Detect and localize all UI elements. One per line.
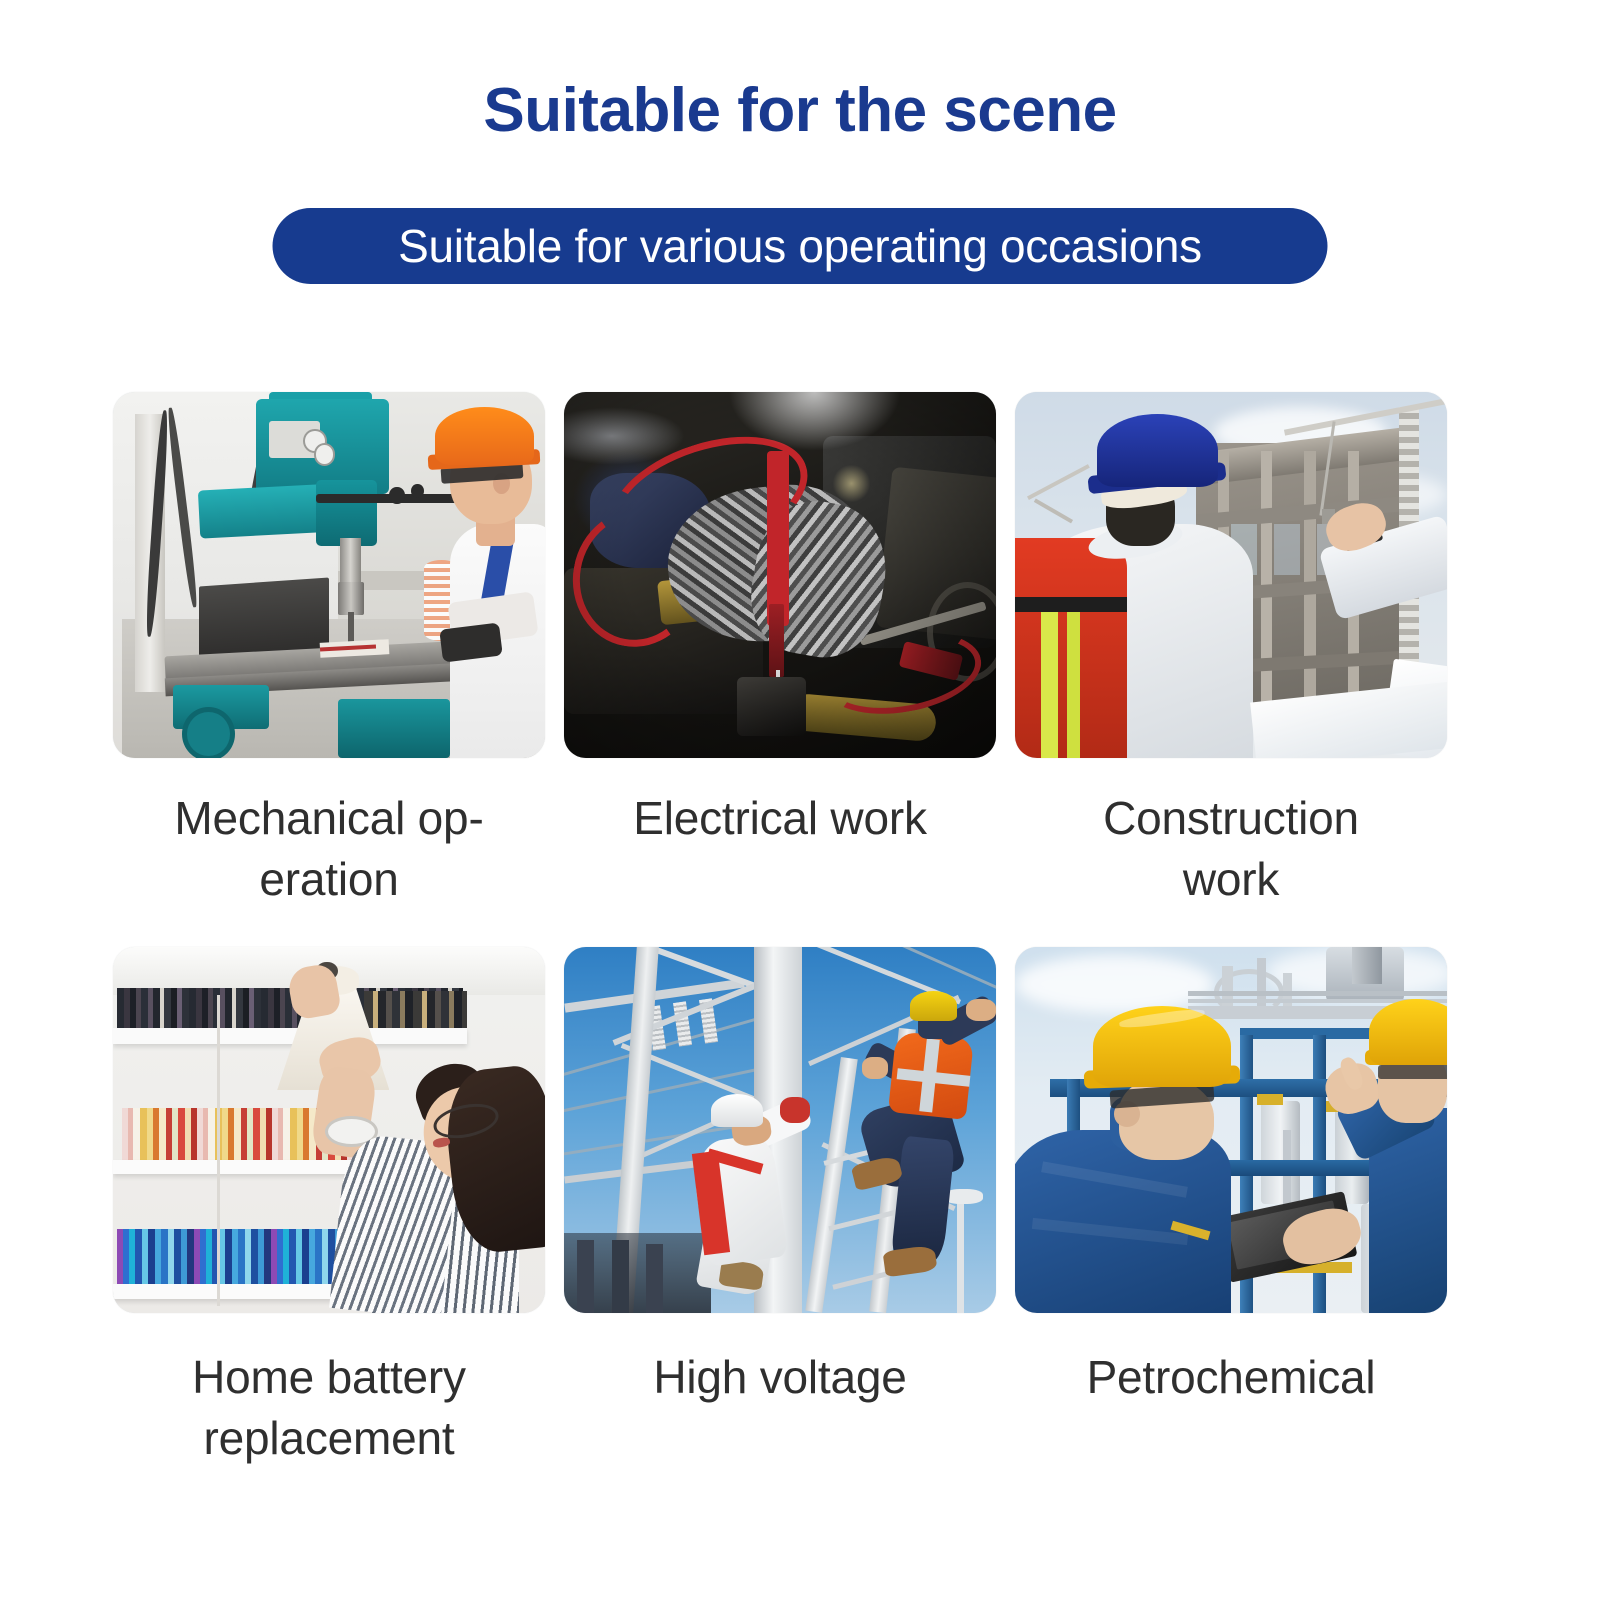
scene-card-home-battery-replacement[interactable]: Home batteryreplacement <box>113 947 545 1468</box>
petrochemical-photo[interactable] <box>1015 947 1447 1313</box>
subtitle-badge-label: Suitable for various operating occasions <box>398 219 1202 273</box>
scene-caption: Electrical work <box>564 758 996 849</box>
high-voltage-illustration <box>564 947 996 1313</box>
scene-caption: Home batteryreplacement <box>113 1313 545 1468</box>
high-voltage-photo[interactable] <box>564 947 996 1313</box>
construction-work-photo[interactable] <box>1015 392 1447 758</box>
scene-caption: High voltage <box>564 1313 996 1408</box>
scene-card-construction-work[interactable]: Constructionwork <box>1015 392 1447 909</box>
mechanical-operation-illustration <box>113 392 545 758</box>
subtitle-badge: Suitable for various operating occasions <box>273 208 1328 284</box>
construction-work-illustration <box>1015 392 1447 758</box>
scene-caption: Mechanical op-eration <box>113 758 545 909</box>
scene-grid: Mechanical op-eration <box>113 392 1449 1469</box>
scene-card-mechanical-operation[interactable]: Mechanical op-eration <box>113 392 545 909</box>
electrical-work-illustration <box>564 392 996 758</box>
scene-card-petrochemical[interactable]: Petrochemical <box>1015 947 1447 1468</box>
home-battery-replacement-illustration <box>113 947 545 1313</box>
scene-caption: Constructionwork <box>1015 758 1447 909</box>
scene-card-high-voltage[interactable]: High voltage <box>564 947 996 1468</box>
scene-card-electrical-work[interactable]: Electrical work <box>564 392 996 909</box>
petrochemical-illustration <box>1015 947 1447 1313</box>
scene-caption: Petrochemical <box>1015 1313 1447 1408</box>
electrical-work-photo[interactable] <box>564 392 996 758</box>
scene-suitability-page: Suitable for the scene Suitable for vari… <box>0 0 1600 1600</box>
mechanical-operation-photo[interactable] <box>113 392 545 758</box>
page-title: Suitable for the scene <box>0 78 1600 143</box>
home-battery-replacement-photo[interactable] <box>113 947 545 1313</box>
